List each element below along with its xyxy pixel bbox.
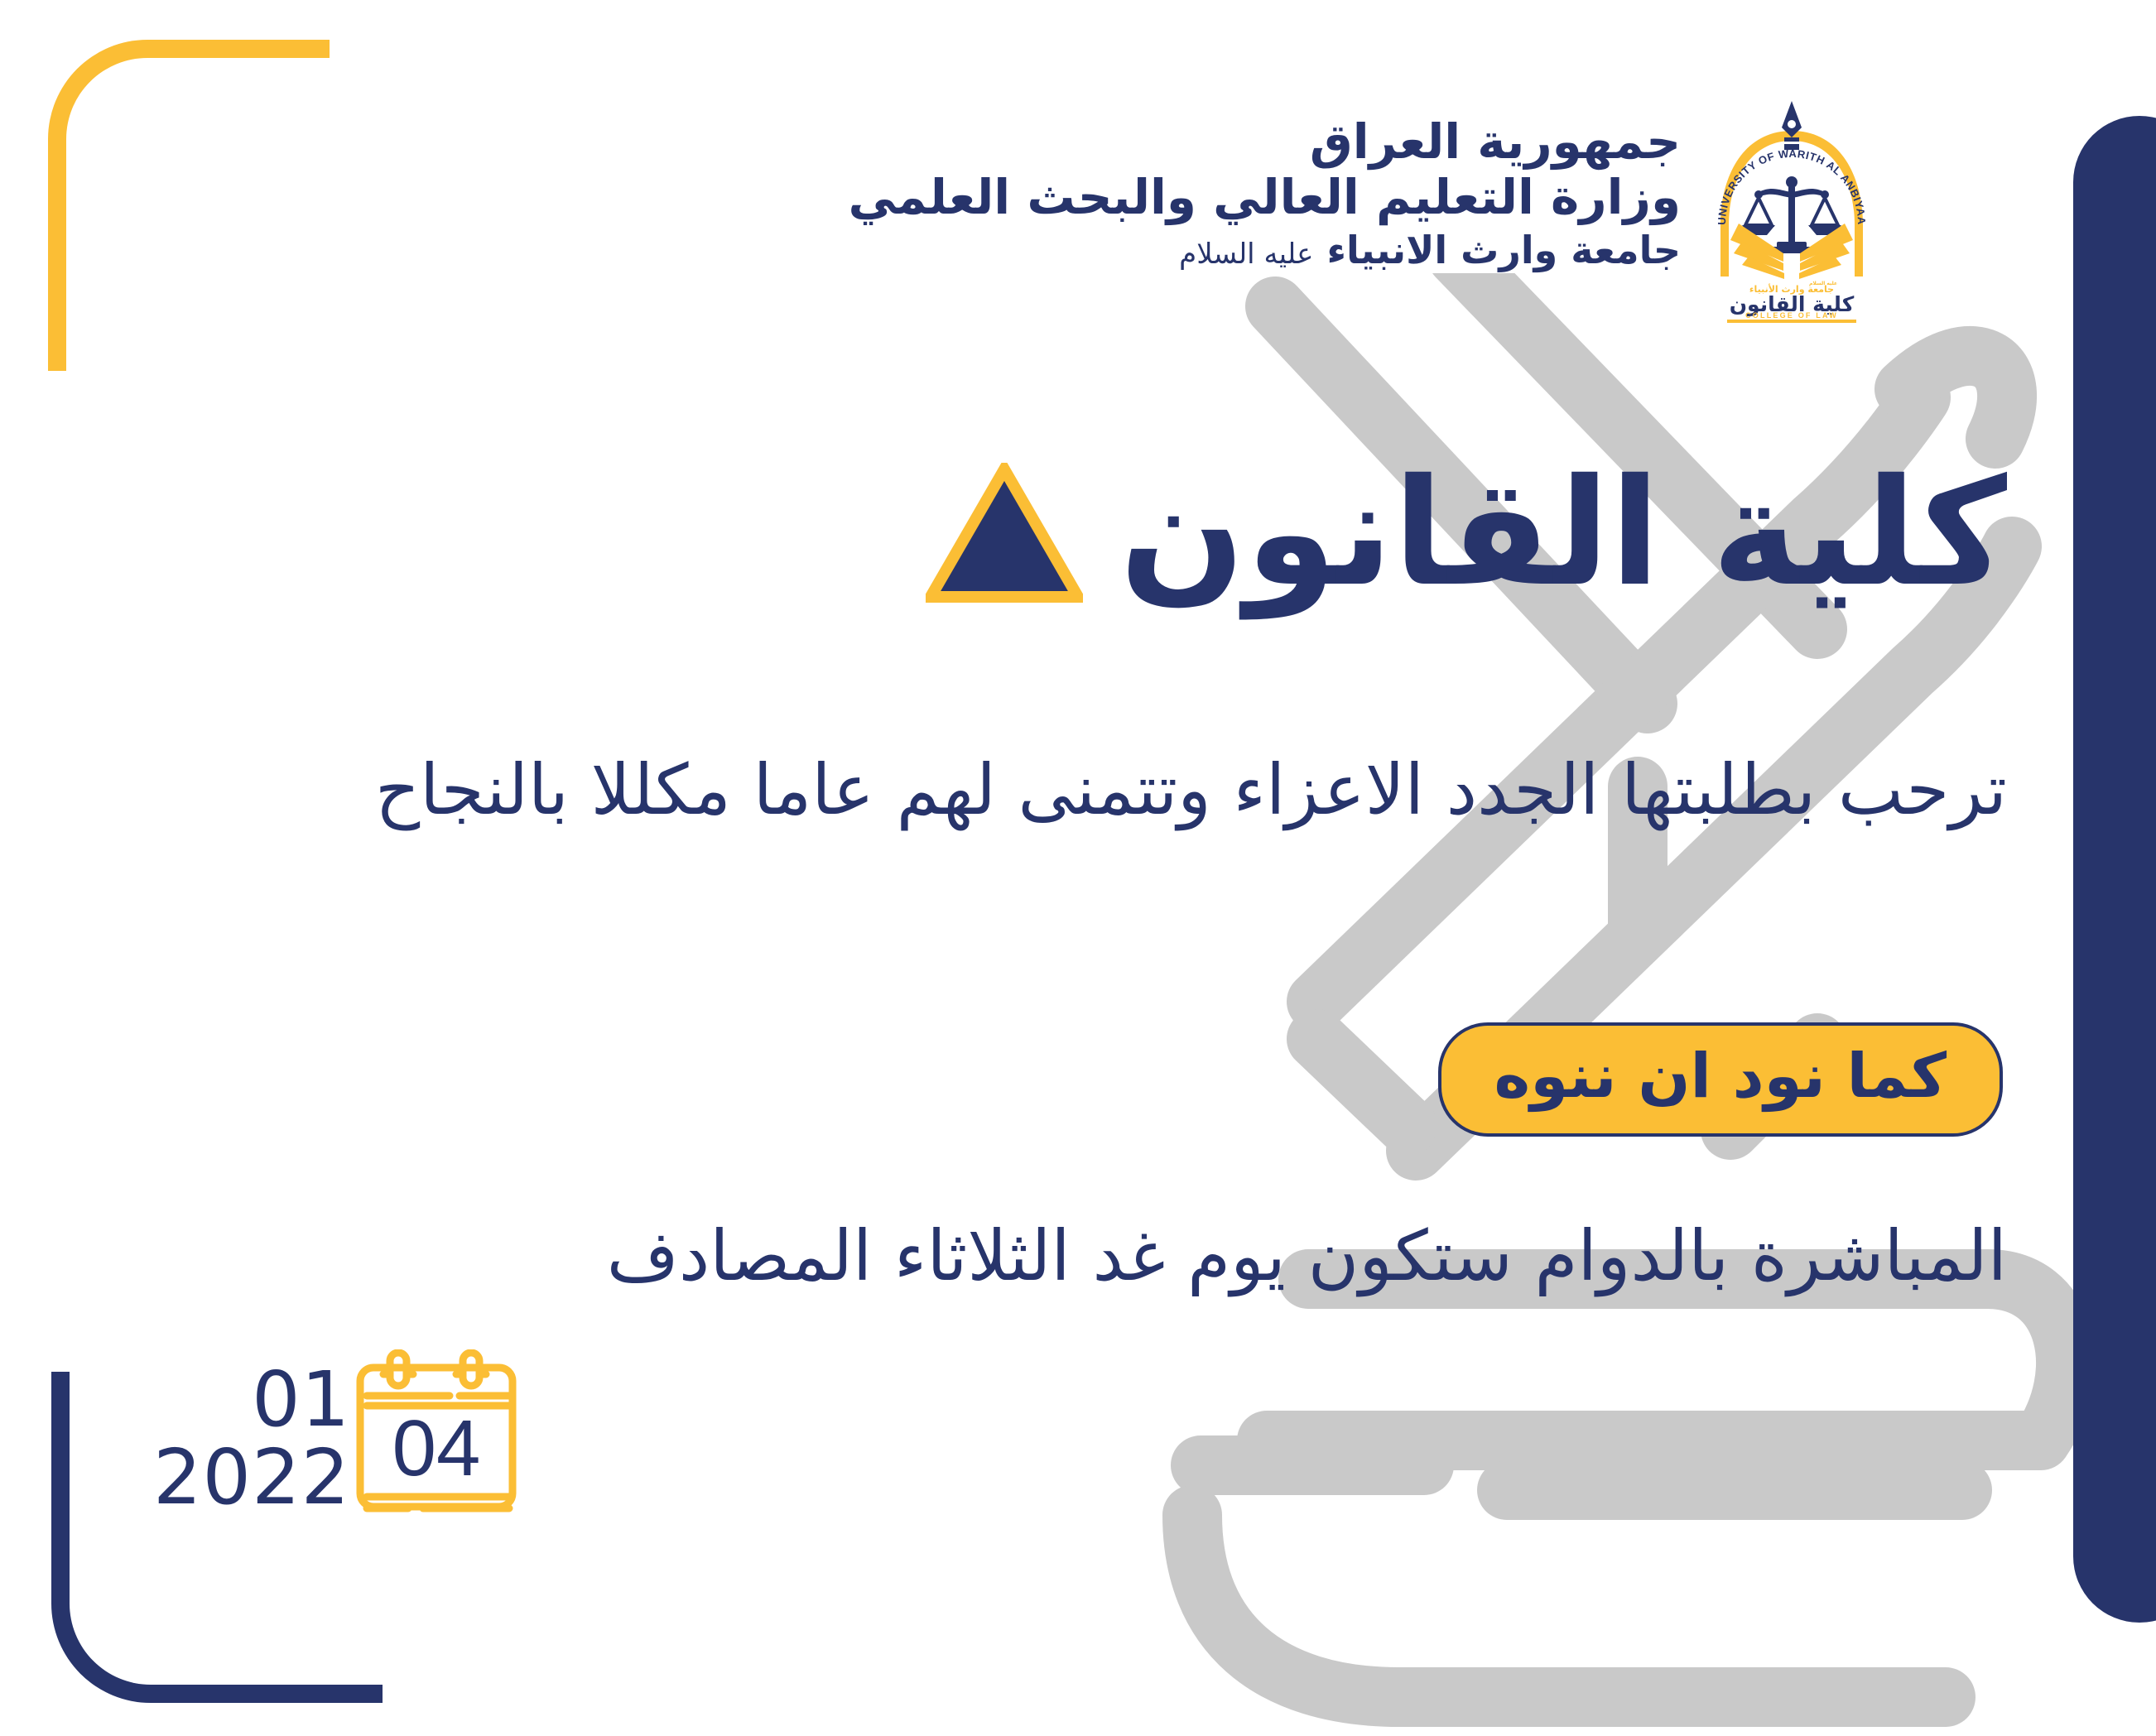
header-line-ministry: وزارة التعليم العالي والبحث العلمي	[849, 170, 1681, 225]
poster-header: UNIVERSITY OF WARITH AL ANBIYAA	[849, 99, 1883, 323]
college-title-row: كلية القانون	[926, 459, 2007, 607]
date-year: 2022	[153, 1439, 350, 1517]
date-month-year: 01 2022	[153, 1361, 350, 1517]
header-university-name: جامعة وارث الانبياء	[1327, 228, 1682, 272]
welcome-message: ترحب بطلبتها الجدد الاعزاء وتتمنى لهم عا…	[149, 749, 2007, 830]
calendar-icon: 04	[354, 1349, 519, 1527]
ministry-header-text: جمهورية العراق وزارة التعليم العالي والب…	[849, 99, 1681, 275]
header-line-university: جامعة وارث الانبياء عليه السلام	[849, 226, 1681, 276]
top-left-corner-bracket	[48, 40, 330, 371]
poster-canvas: UNIVERSITY OF WARITH AL ANBIYAA	[0, 0, 2156, 1736]
page-title: كلية القانون	[1119, 459, 2007, 607]
header-line-country: جمهورية العراق	[849, 114, 1681, 170]
header-university-honorific: عليه السلام	[1179, 238, 1313, 271]
logo-honorific-arabic: عليه السلام	[1809, 281, 1837, 286]
date-day: 04	[392, 1404, 481, 1493]
start-date-message: المباشرة بالدوام ستكون يوم غد الثلاثاء ا…	[149, 1215, 2007, 1296]
university-logo: UNIVERSITY OF WARITH AL ANBIYAA	[1701, 99, 1883, 323]
triangle-marker-icon	[926, 463, 1083, 604]
right-edge-navy-bar	[2073, 116, 2156, 1623]
logo-college-english: COLLEGE OF LAW	[1745, 311, 1838, 320]
date-month: 01	[252, 1361, 350, 1439]
date-block: 01 2022 04	[153, 1349, 519, 1527]
notice-badge: كما نود ان ننوه	[1438, 1022, 2003, 1137]
